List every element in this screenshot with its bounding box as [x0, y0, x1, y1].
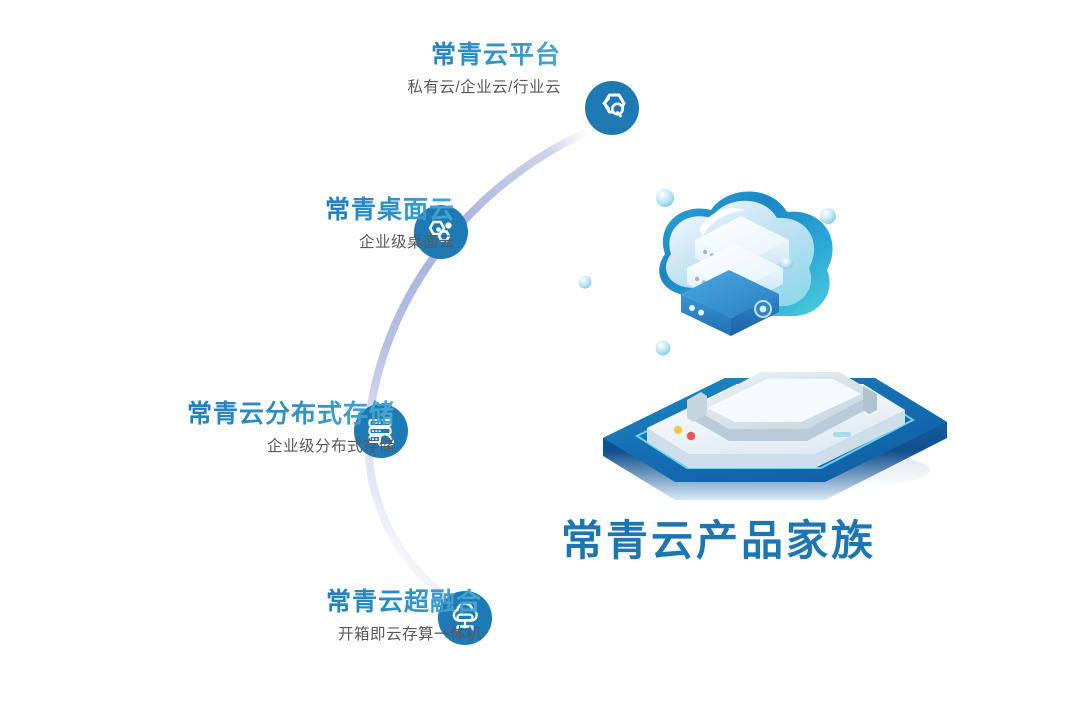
label-title: 常青云平台	[407, 41, 561, 70]
label-subtitle: 开箱即云存算一体机	[326, 626, 482, 645]
label-distributed-storage: 常青云分布式存储 企业级分布式存储	[187, 400, 395, 456]
label-hyperconverged: 常青云超融合 开箱即云存算一体机	[326, 588, 482, 644]
cloud-body	[659, 192, 832, 337]
cloud-server-illustration	[575, 170, 975, 500]
node-cloud-platform[interactable]	[585, 81, 639, 135]
label-subtitle: 私有云/企业云/行业云	[407, 79, 561, 98]
page-title: 常青云产品家族	[561, 507, 876, 568]
infographic-canvas: 常青云平台 私有云/企业云/行业云 常青桌面云 企业级桌面云 常青云分布式存储 …	[0, 0, 1080, 705]
label-title: 常青云分布式存储	[187, 400, 395, 429]
hexagon-cloud-icon	[595, 91, 629, 125]
label-cloud-platform: 常青云平台 私有云/企业云/行业云	[407, 41, 561, 97]
label-title: 常青桌面云	[325, 196, 455, 225]
label-subtitle: 企业级分布式存储	[187, 438, 395, 457]
label-desktop-cloud: 常青桌面云 企业级桌面云	[325, 196, 455, 252]
label-title: 常青云超融合	[326, 588, 482, 617]
label-subtitle: 企业级桌面云	[325, 234, 455, 253]
